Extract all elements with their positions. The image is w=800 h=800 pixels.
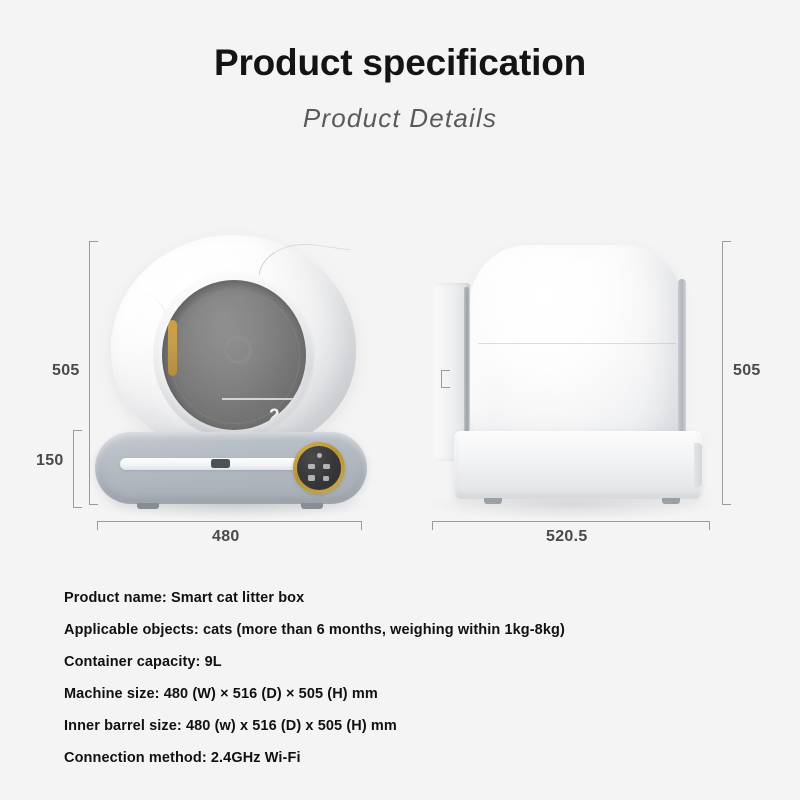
spec-line: Connection method: 2.4GHz Wi-Fi xyxy=(64,750,724,766)
side-body-seam xyxy=(478,343,676,344)
front-width-label: 480 xyxy=(212,528,240,546)
drawer-handle-notch xyxy=(211,459,230,468)
side-height-label: 505 xyxy=(733,362,761,380)
product-spec-page: Product specification Product Details 24… xyxy=(0,0,800,800)
specification-list: Product name: Smart cat litter box Appli… xyxy=(64,590,724,782)
page-title: Product specification xyxy=(0,42,800,84)
front-foot-right xyxy=(301,503,323,509)
inner-diameter-line xyxy=(222,398,306,400)
spec-line: Product name: Smart cat litter box xyxy=(64,590,724,606)
front-base-height-label: 150 xyxy=(36,452,64,470)
front-width-bracket xyxy=(97,521,362,522)
front-view-illustration: 245 xyxy=(95,235,370,525)
spec-line: Applicable objects: cats (more than 6 mo… xyxy=(64,622,724,638)
panel-button-icon-2 xyxy=(323,464,330,469)
inner-diameter-label: 245 xyxy=(269,406,302,428)
side-depth-label: 520.5 xyxy=(546,528,588,546)
spec-line: Container capacity: 9L xyxy=(64,654,724,670)
side-view-illustration xyxy=(432,235,710,525)
panel-button-icon-3 xyxy=(308,475,315,481)
side-litter-box-body xyxy=(470,245,682,457)
front-base-height-bracket xyxy=(73,430,74,508)
drum-hub-icon xyxy=(224,336,252,364)
gold-accent-strip xyxy=(168,320,177,376)
panel-button-icon-1 xyxy=(308,464,315,469)
side-height-bracket xyxy=(722,241,723,505)
spec-line: Inner barrel size: 480 (w) x 516 (D) x 5… xyxy=(64,718,724,734)
control-panel-ring xyxy=(293,442,345,494)
front-foot-left xyxy=(137,503,159,509)
side-drawer-unit xyxy=(454,431,702,499)
page-subtitle: Product Details xyxy=(0,103,800,134)
front-base-unit xyxy=(95,432,367,504)
panel-button-icon-4 xyxy=(323,476,329,481)
drum-opening: 245 xyxy=(162,280,306,430)
front-height-bracket xyxy=(89,241,90,505)
side-foot-left xyxy=(484,498,502,504)
spec-line: Machine size: 480 (W) × 516 (D) × 505 (H… xyxy=(64,686,724,702)
front-height-label: 505 xyxy=(52,362,80,380)
side-depth-bracket xyxy=(432,521,710,522)
side-front-rail xyxy=(678,279,686,451)
side-drawer-lip xyxy=(694,443,702,487)
side-reference-tick xyxy=(441,370,442,388)
panel-power-icon xyxy=(317,453,322,458)
control-panel-face xyxy=(297,446,341,490)
side-foot-right xyxy=(662,498,680,504)
